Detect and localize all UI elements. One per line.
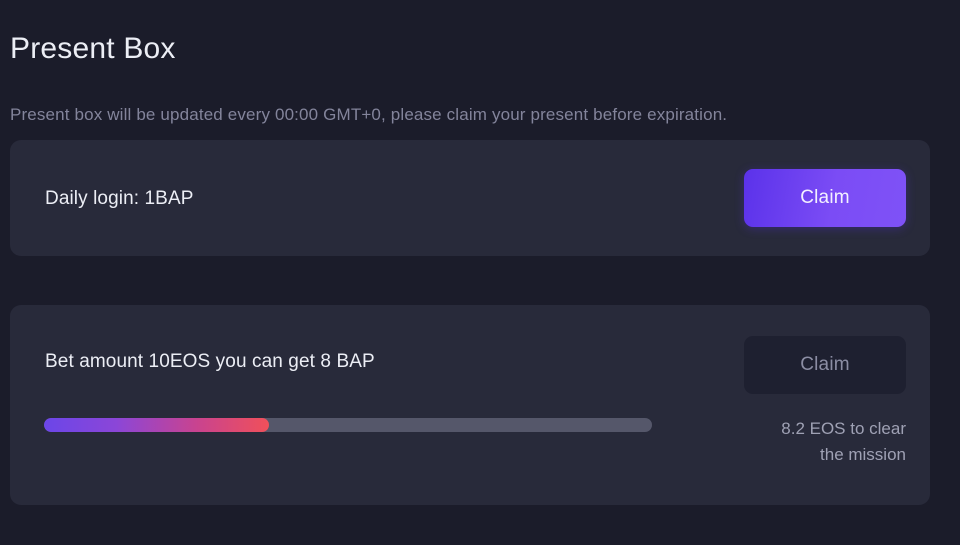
- mission-note-line-1: 8.2 EOS to clear: [781, 419, 906, 438]
- mission-progress-fill: [44, 418, 269, 432]
- present-box-page: Present Box Present box will be updated …: [0, 0, 960, 545]
- page-title: Present Box: [10, 32, 176, 66]
- reward-label: Bet amount 10EOS you can get 8 BAP: [45, 351, 375, 373]
- reward-card-daily-login: Daily login: 1BAP Claim: [10, 140, 930, 256]
- mission-note-line-2: the mission: [820, 445, 906, 464]
- claim-button-daily-login[interactable]: Claim: [744, 169, 906, 227]
- page-subtitle: Present box will be updated every 00:00 …: [10, 105, 727, 125]
- mission-requirement-note: 8.2 EOS to clear the mission: [706, 416, 906, 468]
- claim-button-bet-amount[interactable]: Claim: [744, 336, 906, 394]
- reward-card-bet-amount: Bet amount 10EOS you can get 8 BAP Claim…: [10, 305, 930, 505]
- reward-label: Daily login: 1BAP: [45, 188, 194, 210]
- mission-progress-bar: [44, 418, 652, 432]
